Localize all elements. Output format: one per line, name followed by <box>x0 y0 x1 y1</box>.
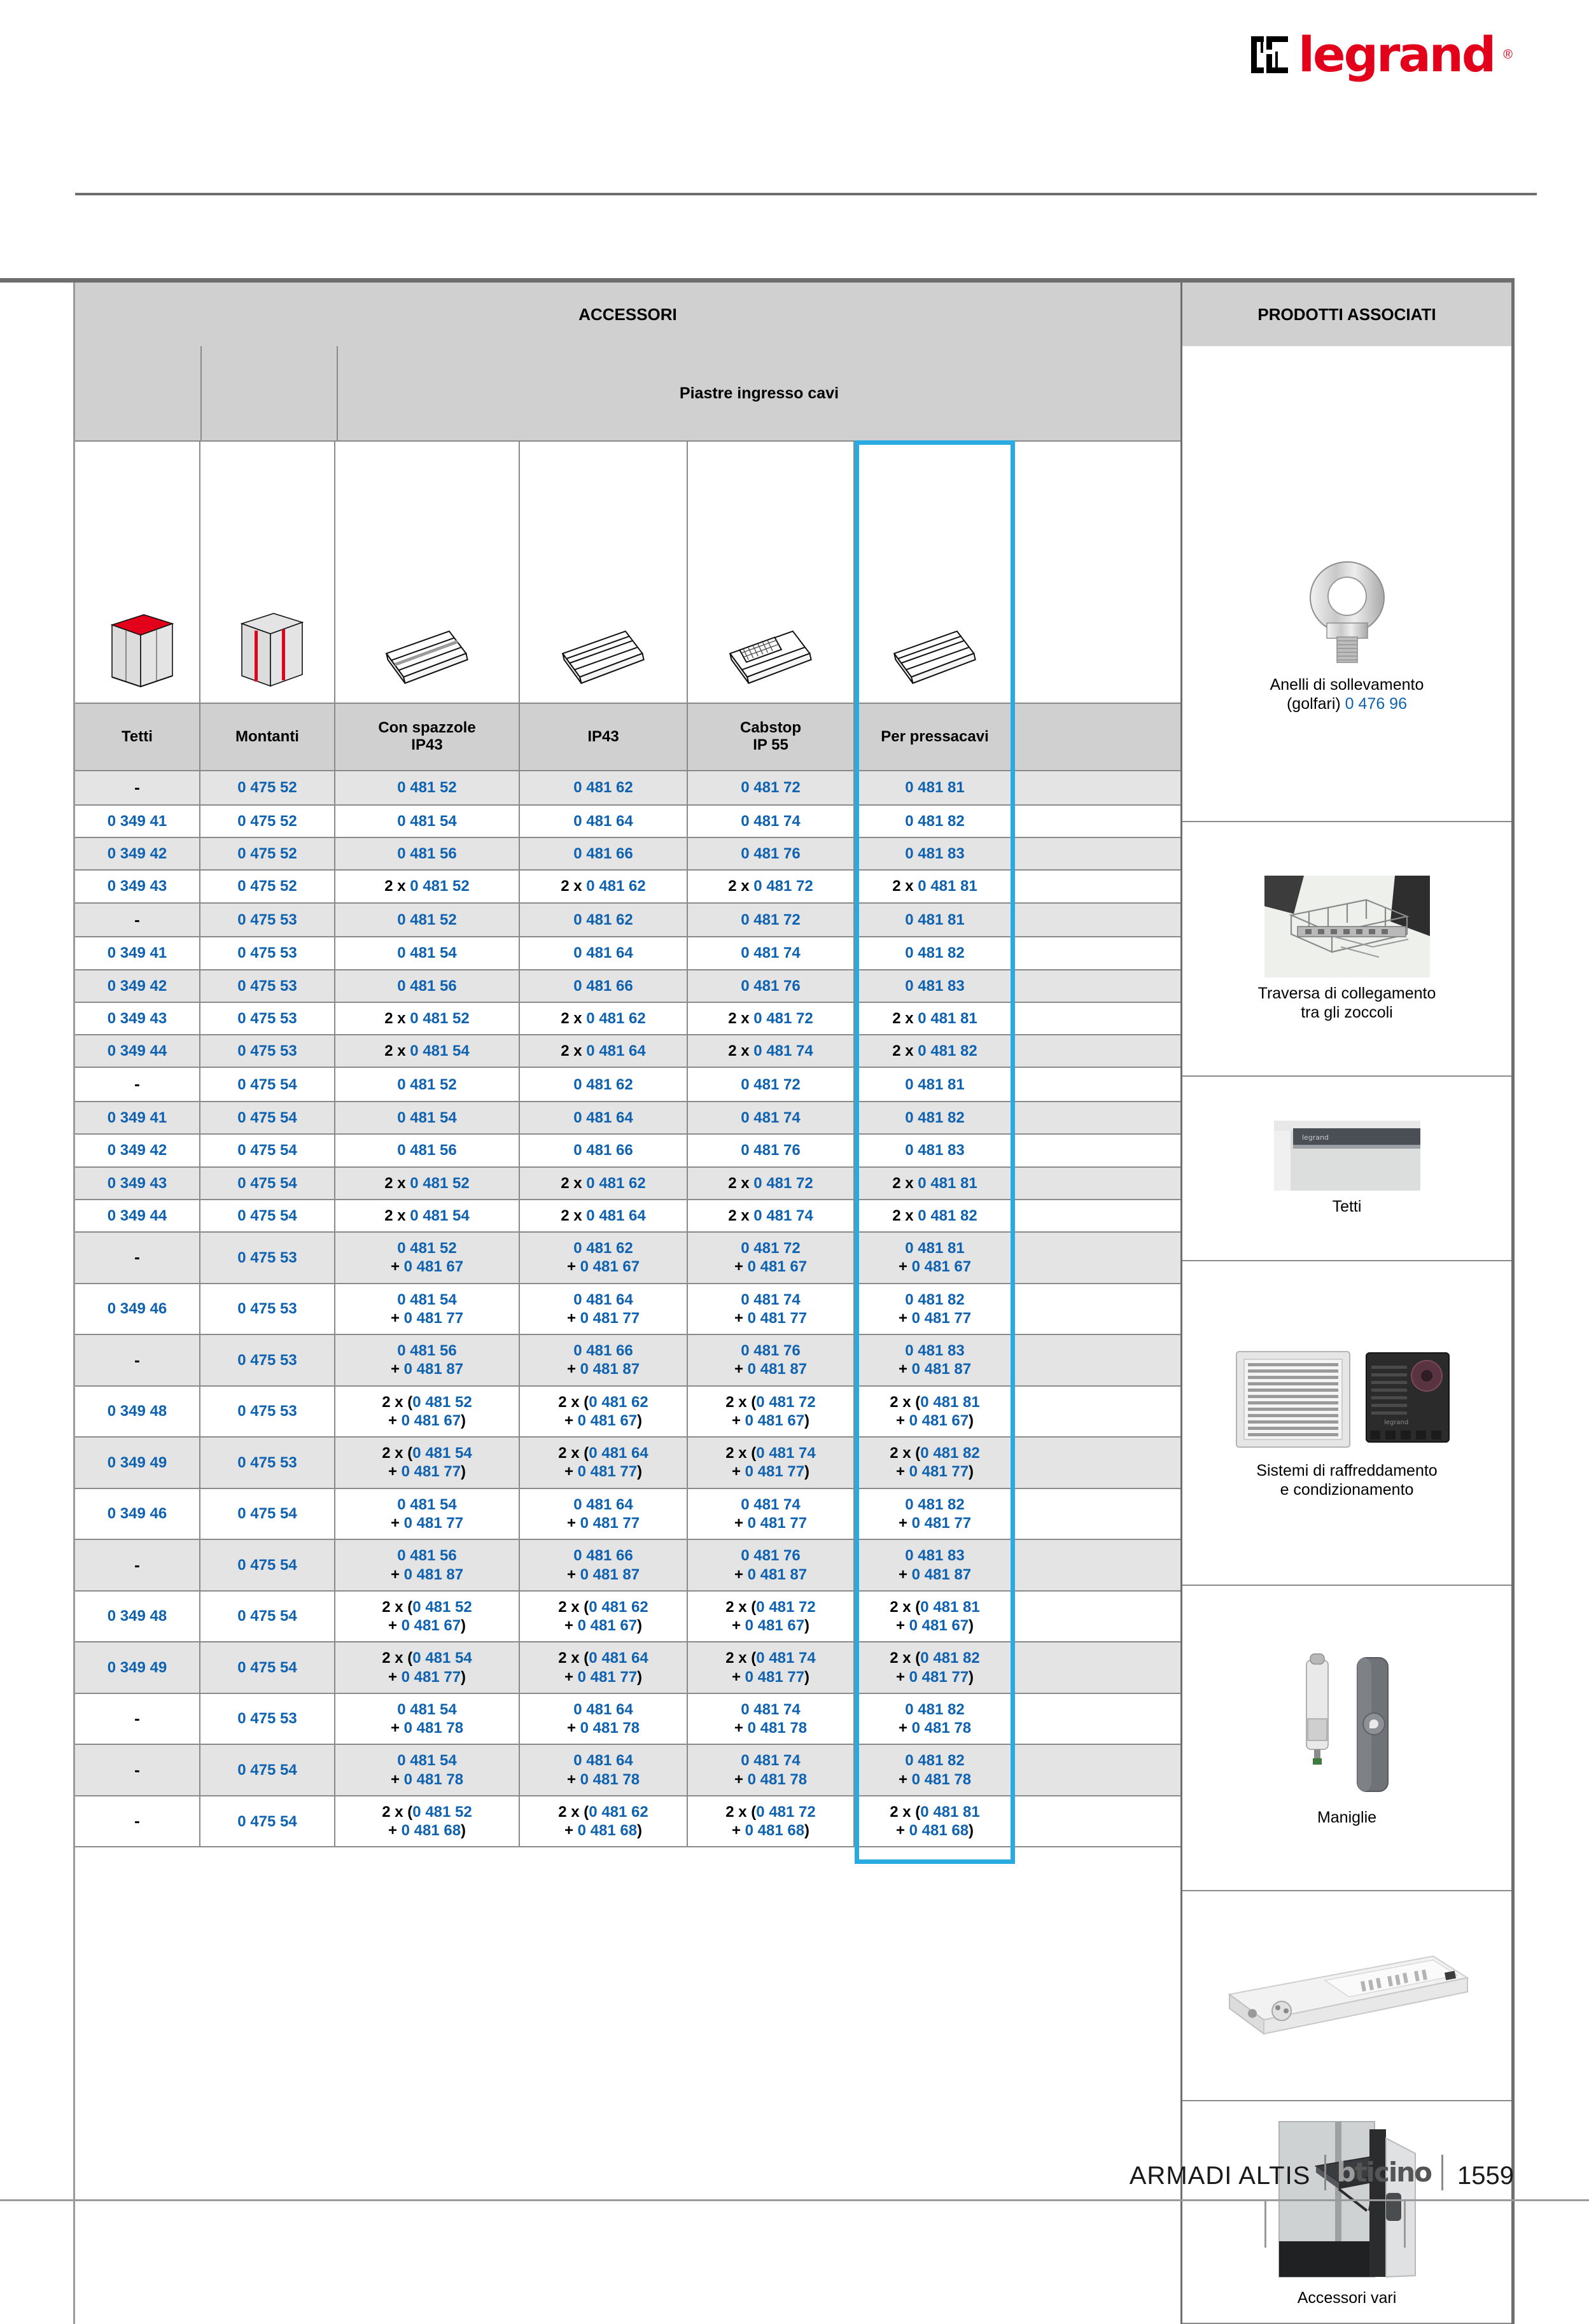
table-row: 0 349 410 475 520 481 540 481 640 481 74… <box>75 806 1180 838</box>
table-cell-cabstop: 0 481 76 <box>688 838 855 869</box>
table-cell-cabstop: 0 481 72 <box>688 904 855 937</box>
table-cell-pressacavi: 2 x (0 481 81+ 0 481 68) <box>855 1796 1015 1847</box>
table-cell-ip43: 0 481 66 <box>520 838 688 869</box>
table-cell-montanti: 0 475 54 <box>200 1540 335 1590</box>
registered-mark-icon: ® <box>1503 48 1513 62</box>
left-margin-column <box>0 283 75 2324</box>
table-cell-ip43: 0 481 64 <box>520 1102 688 1133</box>
table-cell-pressacavi: 2 x (0 481 81+ 0 481 67) <box>855 1592 1015 1642</box>
legrand-mark-icon <box>1250 35 1289 74</box>
table-cell-pressacavi: 0 481 81 <box>855 771 1015 804</box>
cable-plate-ip43-icon <box>554 629 653 703</box>
table-row: 0 349 420 475 540 481 560 481 660 481 76… <box>75 1135 1180 1167</box>
table-cell-cabstop: 2 x 0 481 74 <box>688 1200 855 1231</box>
table-cell-cabstop: 2 x (0 481 74+ 0 481 77) <box>688 1438 855 1488</box>
table-cell-tetti: - <box>75 1745 200 1795</box>
table-cell-pressacavi: 0 481 83 <box>855 970 1015 1002</box>
associated-products-column: PRODOTTI ASSOCIATI Anelli di sollevament… <box>1180 283 1515 2324</box>
table-cell-ip43: 0 481 66 <box>520 970 688 1002</box>
table-cell-cabstop: 0 481 72 <box>688 1068 855 1101</box>
cabinet-uprights-icon <box>226 601 309 703</box>
table-cell-spazzole: 2 x (0 481 52+ 0 481 68) <box>335 1796 520 1847</box>
table-cell-pressacavi: 2 x 0 481 81 <box>855 871 1015 902</box>
table-cell-pressacavi: 0 481 82+ 0 481 78 <box>855 1745 1015 1795</box>
table-cell-ip43: 0 481 64+ 0 481 78 <box>520 1745 688 1795</box>
accessories-group-header: ACCESSORI <box>75 283 1180 346</box>
table-cell-spazzole: 0 481 54+ 0 481 78 <box>335 1694 520 1744</box>
table-cell-pressacavi: 0 481 82+ 0 481 77 <box>855 1284 1015 1334</box>
table-cell-montanti: 0 475 54 <box>200 1168 335 1199</box>
svg-text:legrand: legrand <box>1384 1419 1408 1426</box>
plates-sub-header: Piastre ingresso cavi <box>338 346 1180 440</box>
table-cell-ip43: 2 x (0 481 62+ 0 481 67) <box>520 1387 688 1437</box>
column-header-spazzole: Con spazzole IP43 <box>335 704 520 770</box>
table-cell-ip43: 2 x (0 481 64+ 0 481 77) <box>520 1438 688 1488</box>
table-cell-spazzole: 2 x (0 481 54+ 0 481 77) <box>335 1438 520 1488</box>
associated-product-item: Accessori vari <box>1182 2101 1511 2324</box>
table-cell-ip43: 2 x 0 481 64 <box>520 1035 688 1067</box>
table-cell-pressacavi: 0 481 81 <box>855 1068 1015 1101</box>
associated-product-item: Anelli di sollevamento(golfari) 0 476 96 <box>1182 440 1511 822</box>
table-cell-tetti: 0 349 42 <box>75 838 200 869</box>
table-cell-tetti: 0 349 41 <box>75 937 200 969</box>
table-cell-tetti: - <box>75 1540 200 1590</box>
table-cell-pressacavi: 2 x 0 481 81 <box>855 1003 1015 1034</box>
table-cell-ip43: 0 481 62 <box>520 904 688 937</box>
table-top-border <box>0 278 1515 283</box>
associated-products-header: PRODOTTI ASSOCIATI <box>1182 283 1511 346</box>
table-cell-montanti: 0 475 52 <box>200 871 335 902</box>
table-cell-ip43: 0 481 62 <box>520 771 688 804</box>
table-row: -0 475 530 481 52+ 0 481 670 481 62+ 0 4… <box>75 1233 1180 1284</box>
table-cell-tetti: 0 349 46 <box>75 1284 200 1334</box>
table-cell-tetti: 0 349 48 <box>75 1592 200 1642</box>
associated-product-caption: Accessori vari <box>1298 2288 1397 2307</box>
icon-cell-spazzole <box>335 442 520 703</box>
table-cell-pressacavi: 2 x 0 481 82 <box>855 1200 1015 1231</box>
table-cell-montanti: 0 475 54 <box>200 1135 335 1166</box>
table-row: -0 475 530 481 56+ 0 481 870 481 66+ 0 4… <box>75 1335 1180 1387</box>
associated-product-caption: Maniglie <box>1317 1808 1376 1827</box>
lighting-socket-strip-image <box>1223 1945 1471 2047</box>
table-cell-montanti: 0 475 53 <box>200 1035 335 1067</box>
table-cell-ip43: 2 x (0 481 62+ 0 481 68) <box>520 1796 688 1847</box>
lifting-eyebolt-image <box>1296 548 1398 669</box>
table-cell-tetti: 0 349 43 <box>75 1168 200 1199</box>
associated-product-item <box>1182 1891 1511 2101</box>
table-cell-spazzole: 2 x 0 481 52 <box>335 871 520 902</box>
table-cell-ip43: 0 481 66+ 0 481 87 <box>520 1540 688 1590</box>
table-cell-montanti: 0 475 53 <box>200 937 335 969</box>
footer-tick-left <box>1264 2201 1266 2248</box>
table-cell-montanti: 0 475 53 <box>200 1284 335 1334</box>
table-cell-ip43: 0 481 64+ 0 481 77 <box>520 1489 688 1539</box>
table-cell-spazzole: 2 x 0 481 52 <box>335 1168 520 1199</box>
table-cell-spazzole: 0 481 52 <box>335 904 520 937</box>
table-cell-tetti: 0 349 44 <box>75 1200 200 1231</box>
icon-cell-pressacavi <box>855 442 1015 703</box>
table-cell-montanti: 0 475 54 <box>200 1592 335 1642</box>
footer-rule <box>0 2199 1589 2201</box>
table-cell-montanti: 0 475 52 <box>200 838 335 869</box>
table-cell-tetti: - <box>75 1796 200 1847</box>
table-cell-spazzole: 0 481 56 <box>335 970 520 1002</box>
table-row: -0 475 530 481 520 481 620 481 720 481 8… <box>75 904 1180 938</box>
table-cell-pressacavi: 2 x 0 481 82 <box>855 1035 1015 1067</box>
associated-product-caption: Traversa di collegamentotra gli zoccoli <box>1258 984 1436 1022</box>
table-cell-pressacavi: 2 x 0 481 81 <box>855 1168 1015 1199</box>
bticino-logo: bticino <box>1324 2155 1443 2190</box>
table-cell-pressacavi: 0 481 81 <box>855 904 1015 937</box>
table-cell-tetti: 0 349 42 <box>75 1135 200 1166</box>
cable-plate-gland-icon <box>886 629 984 703</box>
table-cell-cabstop: 0 481 76+ 0 481 87 <box>688 1335 855 1385</box>
footer-section-label: ARMADI ALTIS <box>1130 2162 1325 2190</box>
column-header-tetti: Tetti <box>75 704 200 770</box>
table-cell-tetti: 0 349 48 <box>75 1387 200 1437</box>
table-cell-cabstop: 2 x 0 481 72 <box>688 871 855 902</box>
table-cell-ip43: 0 481 64 <box>520 806 688 837</box>
table-cell-spazzole: 0 481 52 <box>335 771 520 804</box>
table-cell-cabstop: 0 481 74+ 0 481 78 <box>688 1745 855 1795</box>
table-cell-cabstop: 0 481 74+ 0 481 78 <box>688 1694 855 1744</box>
table-cell-cabstop: 2 x (0 481 72+ 0 481 68) <box>688 1796 855 1847</box>
table-cell-tetti: 0 349 49 <box>75 1438 200 1488</box>
table-row: 0 349 480 475 532 x (0 481 52+ 0 481 67)… <box>75 1387 1180 1438</box>
bticino-logo-ticino: ticino <box>1354 2159 1431 2186</box>
accessories-table: ACCESSORI Piastre ingresso cavi <box>75 283 1180 2324</box>
table-cell-montanti: 0 475 54 <box>200 1068 335 1101</box>
table-cell-cabstop: 0 481 74 <box>688 1102 855 1133</box>
fan-grille-thermostat-image: legrand <box>1233 1347 1462 1455</box>
table-cell-montanti: 0 475 54 <box>200 1745 335 1795</box>
table-row: -0 475 542 x (0 481 52+ 0 481 68)2 x (0 … <box>75 1796 1180 1848</box>
table-cell-spazzole: 0 481 52 <box>335 1068 520 1101</box>
table-cell-ip43: 2 x (0 481 64+ 0 481 77) <box>520 1642 688 1693</box>
table-cell-ip43: 2 x (0 481 62+ 0 481 67) <box>520 1592 688 1642</box>
table-cell-tetti: 0 349 46 <box>75 1489 200 1539</box>
table-cell-cabstop: 2 x 0 481 74 <box>688 1035 855 1067</box>
table-cell-ip43: 0 481 66 <box>520 1135 688 1166</box>
table-cell-spazzole: 0 481 54 <box>335 806 520 837</box>
footer-tick-right <box>1404 2201 1406 2248</box>
table-cell-tetti: 0 349 43 <box>75 871 200 902</box>
table-cell-montanti: 0 475 52 <box>200 771 335 804</box>
table-cell-montanti: 0 475 52 <box>200 806 335 837</box>
table-row: 0 349 460 475 530 481 54+ 0 481 770 481 … <box>75 1284 1180 1336</box>
table-cell-spazzole: 0 481 54+ 0 481 77 <box>335 1284 520 1334</box>
table-cell-tetti: - <box>75 1694 200 1744</box>
associated-products-list: Anelli di sollevamento(golfari) 0 476 96… <box>1182 440 1511 2324</box>
bticino-logo-b: b <box>1336 2159 1354 2186</box>
table-row: -0 475 540 481 54+ 0 481 780 481 64+ 0 4… <box>75 1745 1180 1796</box>
cabinet-roof-image: legrand <box>1274 1121 1420 1191</box>
column-header-ip43: IP43 <box>520 704 688 770</box>
icon-cell-cabstop <box>688 442 855 703</box>
cable-plate-cabstop-icon <box>722 629 820 703</box>
table-cell-tetti: 0 349 49 <box>75 1642 200 1693</box>
table-cell-montanti: 0 475 53 <box>200 970 335 1002</box>
svg-text:legrand: legrand <box>1302 1133 1329 1142</box>
table-cell-cabstop: 2 x (0 481 74+ 0 481 77) <box>688 1642 855 1693</box>
table-cell-cabstop: 2 x 0 481 72 <box>688 1003 855 1034</box>
table-cell-tetti: - <box>75 771 200 804</box>
column-icon-strip <box>75 440 1180 703</box>
catalog-sheet: ACCESSORI Piastre ingresso cavi <box>0 278 1515 2324</box>
table-cell-spazzole: 2 x 0 481 54 <box>335 1200 520 1231</box>
associated-product-item: Traversa di collegamentotra gli zoccoli <box>1182 822 1511 1077</box>
table-cell-cabstop: 0 481 74+ 0 481 77 <box>688 1489 855 1539</box>
header-divider-rule <box>75 193 1537 195</box>
table-cell-spazzole: 2 x 0 481 52 <box>335 1003 520 1034</box>
table-cell-pressacavi: 0 481 82+ 0 481 78 <box>855 1694 1015 1744</box>
page-number: 1559 <box>1443 2162 1514 2190</box>
table-cell-spazzole: 2 x (0 481 52+ 0 481 67) <box>335 1592 520 1642</box>
table-cell-spazzole: 0 481 54 <box>335 937 520 969</box>
table-row: 0 349 430 475 532 x 0 481 522 x 0 481 62… <box>75 1003 1180 1035</box>
door-handles-image <box>1277 1649 1417 1802</box>
table-cell-ip43: 0 481 64+ 0 481 77 <box>520 1284 688 1334</box>
icon-cell-ip43 <box>520 442 688 703</box>
cable-tray-crossbar-image <box>1264 876 1430 977</box>
table-row: 0 349 460 475 540 481 54+ 0 481 770 481 … <box>75 1489 1180 1541</box>
associated-product-item: legrand Sistemi di raffreddamentoe condi… <box>1182 1261 1511 1586</box>
table-cell-montanti: 0 475 53 <box>200 904 335 937</box>
table-cell-spazzole: 0 481 54+ 0 481 78 <box>335 1745 520 1795</box>
associated-product-caption: Tetti <box>1333 1197 1362 1216</box>
column-header-pressacavi: Per pressacavi <box>855 704 1015 770</box>
table-cell-pressacavi: 2 x (0 481 82+ 0 481 77) <box>855 1438 1015 1488</box>
table-cell-spazzole: 2 x 0 481 54 <box>335 1035 520 1067</box>
table-row: 0 349 430 475 542 x 0 481 522 x 0 481 62… <box>75 1168 1180 1200</box>
associated-header-pad <box>1182 346 1511 440</box>
table-cell-ip43: 2 x 0 481 62 <box>520 1168 688 1199</box>
table-cell-tetti: 0 349 41 <box>75 1102 200 1133</box>
table-row: 0 349 490 475 542 x (0 481 54+ 0 481 77)… <box>75 1642 1180 1694</box>
table-cell-tetti: 0 349 44 <box>75 1035 200 1067</box>
associated-product-caption: Sistemi di raffreddamentoe condizionamen… <box>1256 1461 1437 1499</box>
table-row: 0 349 410 475 540 481 540 481 640 481 74… <box>75 1102 1180 1135</box>
table-cell-spazzole: 0 481 54 <box>335 1102 520 1133</box>
column-header-row: Tetti Montanti Con spazzole IP43 IP43 Ca… <box>75 703 1180 771</box>
associated-product-caption: Anelli di sollevamento(golfari) 0 476 96 <box>1270 675 1424 713</box>
table-cell-ip43: 2 x 0 481 64 <box>520 1200 688 1231</box>
table-cell-spazzole: 0 481 56+ 0 481 87 <box>335 1540 520 1590</box>
table-cell-pressacavi: 0 481 83+ 0 481 87 <box>855 1335 1015 1385</box>
icon-cell-montanti <box>200 442 335 703</box>
table-cell-cabstop: 0 481 76+ 0 481 87 <box>688 1540 855 1590</box>
table-cell-ip43: 2 x 0 481 62 <box>520 871 688 902</box>
table-row: -0 475 530 481 54+ 0 481 780 481 64+ 0 4… <box>75 1694 1180 1746</box>
table-cell-montanti: 0 475 53 <box>200 1003 335 1034</box>
table-row: 0 349 480 475 542 x (0 481 52+ 0 481 67)… <box>75 1592 1180 1643</box>
table-cell-cabstop: 2 x (0 481 72+ 0 481 67) <box>688 1387 855 1437</box>
table-cell-pressacavi: 0 481 82 <box>855 937 1015 969</box>
table-cell-montanti: 0 475 54 <box>200 1489 335 1539</box>
table-cell-spazzole: 0 481 56 <box>335 1135 520 1166</box>
table-cell-spazzole: 0 481 56+ 0 481 87 <box>335 1335 520 1385</box>
table-cell-pressacavi: 0 481 83+ 0 481 87 <box>855 1540 1015 1590</box>
associated-product-item: legrand Tetti <box>1182 1077 1511 1261</box>
cable-plate-brush-icon <box>378 629 477 703</box>
table-cell-cabstop: 0 481 72+ 0 481 67 <box>688 1233 855 1283</box>
table-cell-cabstop: 0 481 72 <box>688 771 855 804</box>
table-cell-tetti: - <box>75 1068 200 1101</box>
table-cell-montanti: 0 475 53 <box>200 1438 335 1488</box>
table-cell-pressacavi: 0 481 83 <box>855 1135 1015 1166</box>
table-row: -0 475 540 481 520 481 620 481 720 481 8… <box>75 1068 1180 1102</box>
table-cell-tetti: 0 349 42 <box>75 970 200 1002</box>
table-cell-tetti: - <box>75 904 200 937</box>
table-cell-tetti: 0 349 41 <box>75 806 200 837</box>
legrand-logo: legrand ® <box>1250 31 1513 79</box>
table-cell-ip43: 0 481 64 <box>520 937 688 969</box>
icon-cell-tetti <box>75 442 200 703</box>
table-row: 0 349 490 475 532 x (0 481 54+ 0 481 77)… <box>75 1438 1180 1489</box>
table-row: 0 349 430 475 522 x 0 481 522 x 0 481 62… <box>75 871 1180 903</box>
table-cell-pressacavi: 2 x (0 481 82+ 0 481 77) <box>855 1642 1015 1693</box>
table-cell-cabstop: 2 x (0 481 72+ 0 481 67) <box>688 1592 855 1642</box>
table-cell-pressacavi: 0 481 81+ 0 481 67 <box>855 1233 1015 1283</box>
table-cell-cabstop: 2 x 0 481 72 <box>688 1168 855 1199</box>
table-cell-pressacavi: 0 481 82+ 0 481 77 <box>855 1489 1015 1539</box>
page-footer: ARMADI ALTIS bticino 1559 <box>0 2155 1589 2190</box>
table-cell-ip43: 2 x 0 481 62 <box>520 1003 688 1034</box>
table-cell-spazzole: 0 481 56 <box>335 838 520 869</box>
column-header-montanti: Montanti <box>200 704 335 770</box>
table-cell-cabstop: 0 481 74+ 0 481 77 <box>688 1284 855 1334</box>
table-cell-spazzole: 0 481 52+ 0 481 67 <box>335 1233 520 1283</box>
table-cell-montanti: 0 475 54 <box>200 1796 335 1847</box>
table-cell-cabstop: 0 481 74 <box>688 937 855 969</box>
table-cell-montanti: 0 475 53 <box>200 1694 335 1744</box>
table-cell-ip43: 0 481 62+ 0 481 67 <box>520 1233 688 1283</box>
table-cell-spazzole: 2 x (0 481 54+ 0 481 77) <box>335 1642 520 1693</box>
table-body: -0 475 520 481 520 481 620 481 720 481 8… <box>75 771 1180 1847</box>
table-cell-montanti: 0 475 54 <box>200 1102 335 1133</box>
table-cell-tetti: 0 349 43 <box>75 1003 200 1034</box>
header-spacer-tetti <box>75 346 202 440</box>
table-row: -0 475 540 481 56+ 0 481 870 481 66+ 0 4… <box>75 1540 1180 1592</box>
table-cell-tetti: - <box>75 1335 200 1385</box>
header-spacer-montanti <box>202 346 338 440</box>
table-cell-pressacavi: 2 x (0 481 81+ 0 481 67) <box>855 1387 1015 1437</box>
table-cell-cabstop: 0 481 76 <box>688 1135 855 1166</box>
table-cell-cabstop: 0 481 74 <box>688 806 855 837</box>
table-row: 0 349 420 475 530 481 560 481 660 481 76… <box>75 970 1180 1003</box>
table-cell-ip43: 0 481 64+ 0 481 78 <box>520 1694 688 1744</box>
table-cell-cabstop: 0 481 76 <box>688 970 855 1002</box>
table-cell-montanti: 0 475 54 <box>200 1642 335 1693</box>
table-cell-spazzole: 0 481 54+ 0 481 77 <box>335 1489 520 1539</box>
table-cell-ip43: 0 481 62 <box>520 1068 688 1101</box>
table-row: 0 349 440 475 542 x 0 481 542 x 0 481 64… <box>75 1200 1180 1233</box>
legrand-wordmark: legrand <box>1298 31 1494 79</box>
table-row: 0 349 410 475 530 481 540 481 640 481 74… <box>75 937 1180 970</box>
table-cell-pressacavi: 0 481 82 <box>855 1102 1015 1133</box>
table-cell-ip43: 0 481 66+ 0 481 87 <box>520 1335 688 1385</box>
cabinet-roof-icon <box>96 601 179 703</box>
table-cell-montanti: 0 475 53 <box>200 1233 335 1283</box>
table-cell-montanti: 0 475 53 <box>200 1335 335 1385</box>
column-header-cabstop: Cabstop IP 55 <box>688 704 855 770</box>
table-cell-spazzole: 2 x (0 481 52+ 0 481 67) <box>335 1387 520 1437</box>
table-row: 0 349 440 475 532 x 0 481 542 x 0 481 64… <box>75 1035 1180 1068</box>
table-cell-tetti: - <box>75 1233 200 1283</box>
table-cell-pressacavi: 0 481 83 <box>855 838 1015 869</box>
table-cell-pressacavi: 0 481 82 <box>855 806 1015 837</box>
table-row: 0 349 420 475 520 481 560 481 660 481 76… <box>75 838 1180 871</box>
table-row: -0 475 520 481 520 481 620 481 720 481 8… <box>75 771 1180 806</box>
table-cell-montanti: 0 475 54 <box>200 1200 335 1231</box>
table-cell-montanti: 0 475 53 <box>200 1387 335 1437</box>
associated-product-item: Maniglie <box>1182 1586 1511 1891</box>
